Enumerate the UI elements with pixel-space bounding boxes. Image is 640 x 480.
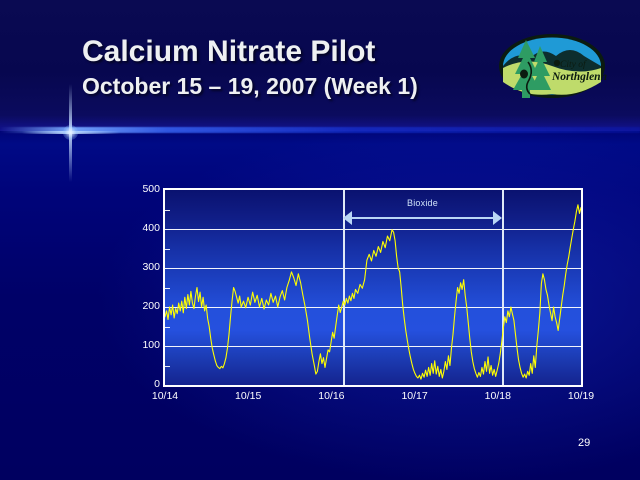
y-axis-tick-labels: 0100200300400500 [124,178,160,403]
logo-text-line2: Northglenn [551,71,607,83]
concentration-chart: Concentration (ppm) 0100200300400500 Bio… [100,178,600,403]
y-tick-label: 200 [126,300,160,312]
x-tick-label: 10/14 [143,390,187,402]
y-tick-label: 0 [126,378,160,390]
y-tick-label: 400 [126,222,160,234]
concentration-trace [165,190,581,385]
title-block: Calcium Nitrate Pilot October 15 – 19, 2… [82,35,502,101]
logo-text-line1: City of [560,59,587,70]
header-light-streak [0,127,640,133]
page-number: 29 [578,437,590,449]
x-tick-label: 10/17 [393,390,437,402]
y-tick-label: 300 [126,261,160,273]
x-tick-label: 10/16 [309,390,353,402]
city-of-northglenn-logo: City of Northglenn [496,22,608,110]
x-tick-label: 10/15 [226,390,270,402]
plot-area: Bioxide [163,188,583,387]
slide-canvas: Calcium Nitrate Pilot October 15 – 19, 2… [0,0,640,480]
y-tick-label: 500 [126,183,160,195]
y-tick-label: 100 [126,339,160,351]
x-tick-label: 10/18 [476,390,520,402]
x-tick-label: 10/19 [559,390,603,402]
slide-subtitle: October 15 – 19, 2007 (Week 1) [82,71,502,101]
slide-title: Calcium Nitrate Pilot [82,35,502,69]
